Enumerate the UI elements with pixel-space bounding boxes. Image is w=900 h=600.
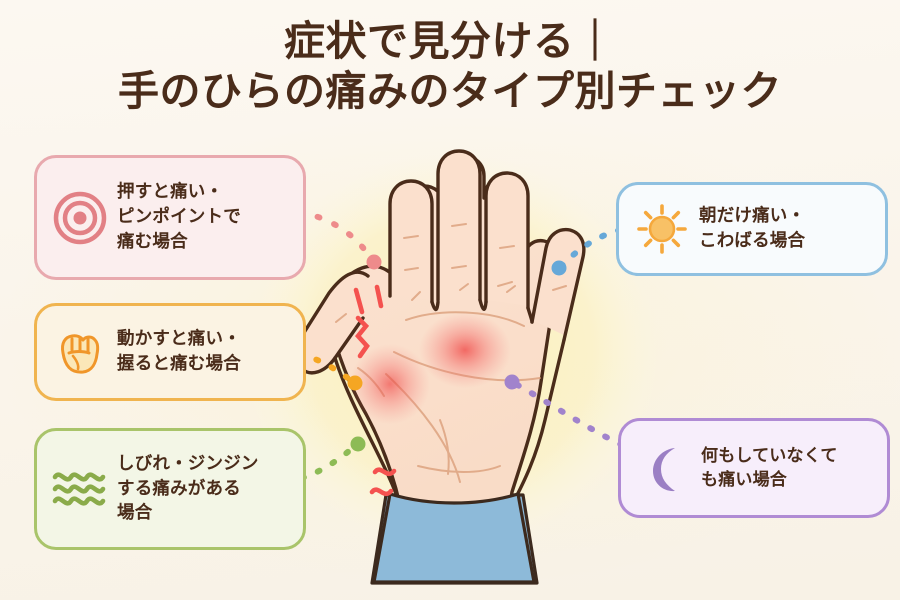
- card-rest-text: 何もしていなくて も痛い場合: [701, 444, 838, 492]
- card-numbness-line-3: 場合: [117, 501, 259, 526]
- card-morning-text: 朝だけ痛い・ こわばる場合: [699, 204, 805, 254]
- ring-finger: [486, 173, 528, 306]
- fist-icon: [51, 323, 109, 381]
- sleeve-front: [374, 494, 534, 582]
- card-movement-line-2: 握ると痛む場合: [117, 352, 241, 377]
- card-press-line-2: ピンポイントで: [117, 205, 241, 230]
- page-title: 症状で見分ける｜ 手のひらの痛みのタイプ別チェック: [0, 16, 900, 116]
- card-numbness-pain[interactable]: しびれ・ジンジン する痛みがある 場合: [34, 428, 306, 550]
- moon-icon: [635, 439, 693, 497]
- wave-lines-icon: [51, 460, 109, 518]
- card-morning-line-1: 朝だけ痛い・: [699, 204, 805, 229]
- card-press-line-1: 押すと痛い・: [117, 180, 241, 205]
- card-press-text: 押すと痛い・ ピンポイントで 痛む場合: [117, 180, 241, 255]
- pain-spot-center: [419, 312, 511, 388]
- card-rest-line-1: 何もしていなくて: [701, 444, 838, 468]
- card-movement-pain[interactable]: 動かすと痛い・ 握ると痛む場合: [34, 303, 306, 401]
- card-morning-pain[interactable]: 朝だけ痛い・ こわばる場合: [616, 182, 888, 276]
- card-morning-line-2: こわばる場合: [699, 229, 805, 254]
- infographic-canvas: 症状で見分ける｜ 手のひらの痛みのタイプ別チェック: [0, 0, 900, 600]
- card-movement-line-1: 動かすと痛い・: [117, 327, 241, 352]
- card-numbness-text: しびれ・ジンジン する痛みがある 場合: [117, 452, 259, 527]
- card-numbness-line-1: しびれ・ジンジン: [117, 452, 259, 477]
- sun-icon: [633, 200, 691, 258]
- card-rest-pain[interactable]: 何もしていなくて も痛い場合: [618, 418, 890, 518]
- title-line-1: 症状で見分ける｜: [0, 16, 900, 66]
- card-press-line-3: 痛む場合: [117, 230, 241, 255]
- card-press-pain[interactable]: 押すと痛い・ ピンポイントで 痛む場合: [34, 155, 306, 280]
- card-movement-text: 動かすと痛い・ 握ると痛む場合: [117, 327, 241, 377]
- card-rest-line-2: も痛い場合: [701, 468, 838, 492]
- card-numbness-line-2: する痛みがある: [117, 477, 259, 502]
- target-icon: [51, 189, 109, 247]
- title-line-2: 手のひらの痛みのタイプ別チェック: [0, 66, 900, 116]
- index-finger: [390, 181, 432, 300]
